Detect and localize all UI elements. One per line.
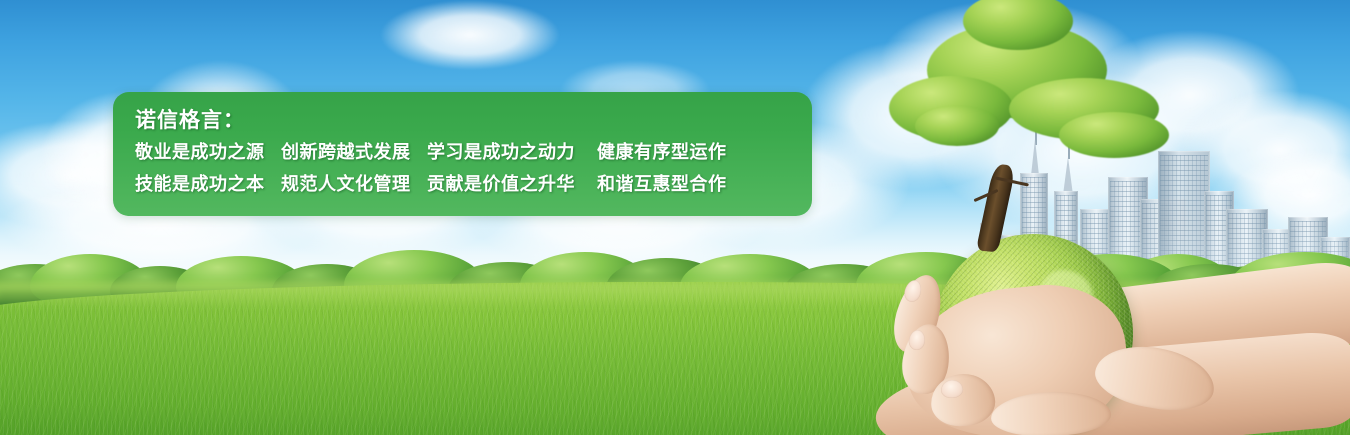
motto-line-1: 敬业是成功之源 创新跨越式发展 学习是成功之动力 健康有序型运作 bbox=[135, 136, 812, 168]
motto-title: 诺信格言： bbox=[135, 106, 812, 136]
grass-horizon-blur bbox=[0, 282, 1350, 308]
motto-line-2: 技能是成功之本 规范人文化管理 贡献是价值之升华 和谐互惠型合作 bbox=[135, 168, 812, 200]
eco-culture-banner: 诺信格言： 敬业是成功之源 创新跨越式发展 学习是成功之动力 健康有序型运作 技… bbox=[0, 0, 1350, 435]
motto-panel: 诺信格言： 敬业是成功之源 创新跨越式发展 学习是成功之动力 健康有序型运作 技… bbox=[113, 92, 812, 216]
grass-field bbox=[0, 282, 1350, 435]
